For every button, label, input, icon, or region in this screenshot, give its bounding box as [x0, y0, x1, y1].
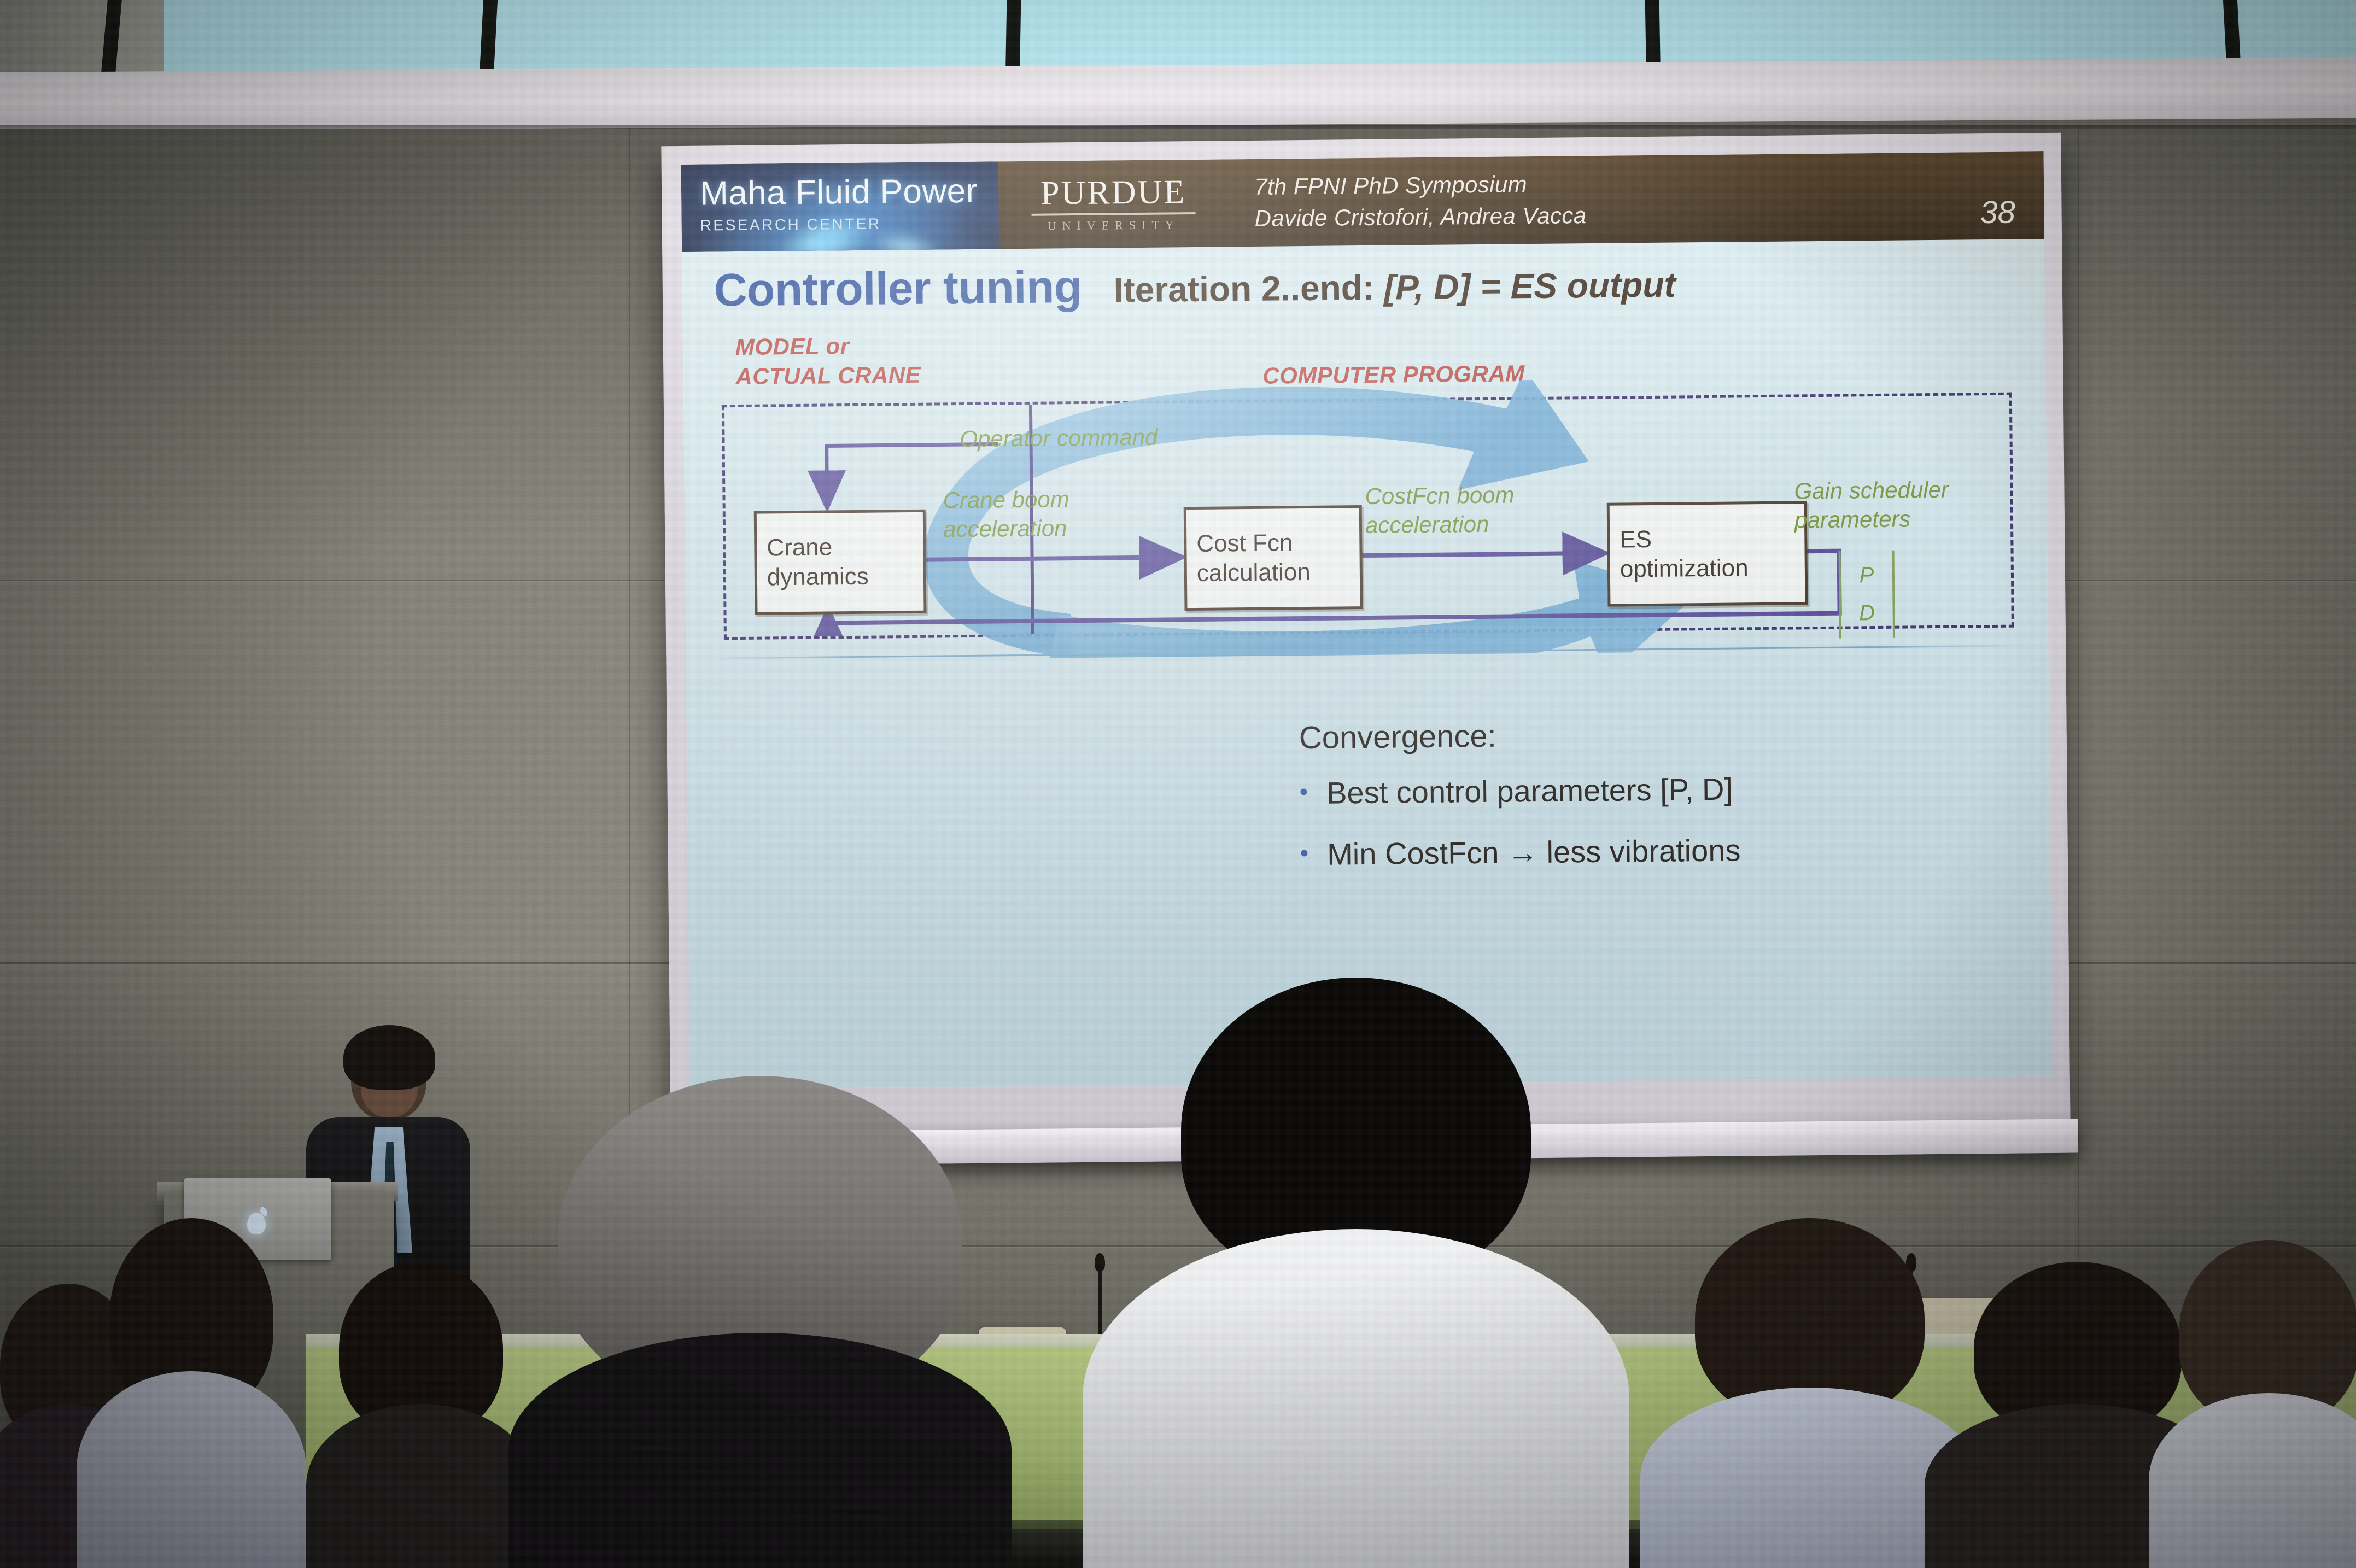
purdue-logo: PURDUE UNIVERSITY: [998, 159, 1229, 249]
gain-sched-line2: parameters: [1794, 505, 1949, 535]
diagram-box-es-optimization: ES optimization: [1607, 501, 1808, 607]
gain-sched-line1: Gain scheduler: [1794, 476, 1949, 506]
costfcn-accel-line2: acceleration: [1365, 510, 1515, 540]
bullet-text: Min CostFcn → less vibrations: [1327, 832, 1741, 871]
maha-logo-subtitle: RESEARCH CENTER: [700, 215, 881, 234]
audience-member: [508, 1076, 1012, 1568]
purdue-wordmark: PURDUE: [1040, 175, 1186, 210]
audience-shoulders: [508, 1333, 1012, 1568]
box-cost-line2: calculation: [1197, 557, 1351, 588]
slide-header-band: Maha Fluid Power RESEARCH CENTER PURDUE …: [681, 151, 2044, 252]
bullet-text: Best control parameters [P, D]: [1326, 771, 1733, 811]
box-cost-line1: Cost Fcn: [1196, 528, 1350, 559]
region-label-crane-line2: ACTUAL CRANE: [735, 360, 921, 391]
slide-subtitle: Iteration 2..end: [P, D] = ES output: [1113, 265, 1676, 311]
box-crane-line2: dynamics: [767, 561, 914, 592]
purdue-rule: [1032, 212, 1196, 216]
box-es-line1: ES: [1620, 524, 1795, 555]
slide-title: Controller tuning: [714, 260, 1082, 317]
box-es-line2: optimization: [1620, 553, 1796, 584]
subtitle-prefix: Iteration 2..end:: [1113, 268, 1384, 310]
audience-member: [1083, 978, 1629, 1568]
audience-member: [306, 1262, 536, 1568]
diagram-box-cost-fcn: Cost Fcn calculation: [1184, 505, 1363, 611]
convergence-heading: Convergence:: [1299, 718, 1496, 756]
vector-row-p: P: [1859, 563, 1874, 588]
lecture-hall-photo: Maha Fluid Power RESEARCH CENTER PURDUE …: [0, 0, 2356, 1568]
presenter-hair: [343, 1025, 435, 1090]
purdue-subtitle: UNIVERSITY: [1048, 218, 1180, 233]
region-label-computer-program: COMPUTER PROGRAM: [1262, 359, 1525, 390]
audience-member: [77, 1218, 306, 1568]
presentation-slide: Maha Fluid Power RESEARCH CENTER PURDUE …: [681, 151, 2053, 1090]
signal-label-gain-scheduler: Gain scheduler parameters: [1794, 476, 1949, 535]
bullet-item: • Best control parameters [P, D]: [1299, 771, 1733, 811]
maha-logo-title: Maha Fluid Power: [700, 172, 978, 213]
audience-shoulders: [306, 1404, 536, 1568]
slide-divider: [711, 645, 2023, 659]
audience-shoulders: [77, 1371, 306, 1568]
subtitle-italic: [P, D] = ES output: [1384, 265, 1676, 307]
output-vector-pd: P D: [1839, 551, 1896, 639]
audience-shoulders: [1083, 1229, 1629, 1568]
audience-shoulders: [2149, 1393, 2356, 1568]
crane-accel-line2: acceleration: [943, 514, 1070, 544]
region-label-crane-line1: MODEL or: [735, 331, 921, 362]
diagram-box-crane-dynamics: Crane dynamics: [754, 510, 927, 615]
bullet-glyph: •: [1299, 775, 1308, 811]
vector-row-d: D: [1859, 601, 1875, 625]
bullet-item: • Min CostFcn → less vibrations: [1300, 832, 1740, 872]
slide-title-row: Controller tuning Iteration 2..end: [P, …: [714, 251, 2026, 317]
audience-member: [2149, 1240, 2356, 1568]
symposium-name: 7th FPNI PhD Symposium: [1254, 167, 1951, 200]
costfcn-accel-line1: CostFcn boom: [1365, 481, 1515, 511]
header-meta: 7th FPNI PhD Symposium Davide Cristofori…: [1228, 153, 1951, 247]
signal-label-costfcn-acceleration: CostFcn boom acceleration: [1365, 481, 1515, 540]
signal-label-operator-command: Operator command: [960, 423, 1157, 454]
control-loop-diagram: Crane dynamics Cost Fcn calculation ES o…: [722, 393, 2014, 640]
bullet-glyph: •: [1300, 836, 1308, 872]
skylight-sidewall: [0, 0, 164, 82]
slide-page-number: 38: [1951, 151, 2045, 240]
maha-fluid-power-logo: Maha Fluid Power RESEARCH CENTER: [681, 161, 999, 252]
signal-label-crane-acceleration: Crane boom acceleration: [943, 485, 1069, 544]
author-names: Davide Cristofori, Andrea Vacca: [1254, 199, 1951, 232]
box-crane-line1: Crane: [767, 532, 914, 563]
region-label-crane: MODEL or ACTUAL CRANE: [735, 331, 921, 391]
crane-accel-line1: Crane boom: [943, 485, 1069, 515]
